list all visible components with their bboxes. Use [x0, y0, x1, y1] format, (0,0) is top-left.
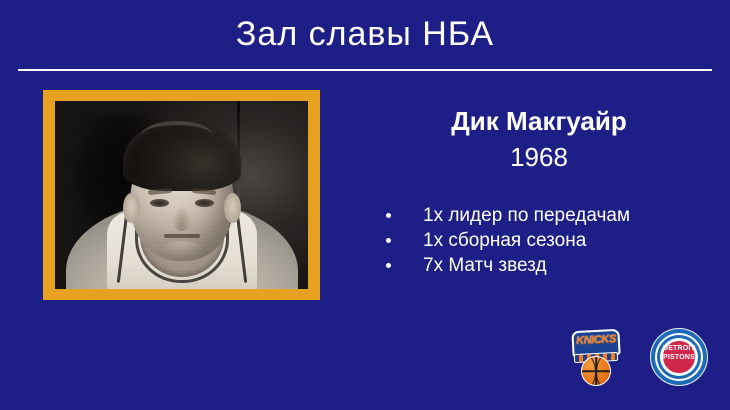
knicks-logo-body: KNICKS — [570, 330, 622, 386]
player-brow-left — [147, 188, 171, 195]
achievement-text: 7x Матч звезд — [423, 255, 547, 276]
player-ear-right — [224, 193, 241, 223]
player-eye-left — [150, 199, 169, 207]
hall-of-fame-slide: Зал славы НБА — [0, 0, 730, 410]
player-nose — [172, 205, 192, 231]
player-mouth — [164, 234, 200, 238]
jersey-trim-right — [235, 213, 247, 283]
bullet-icon — [386, 213, 391, 218]
list-item: 1x лидер по передачам — [383, 203, 630, 228]
player-hair-wave — [141, 121, 213, 151]
player-brow-right — [191, 188, 215, 195]
player-ear-left — [123, 193, 140, 223]
achievement-text: 1x лидер по передачам — [423, 205, 630, 226]
title-divider — [18, 69, 712, 71]
induction-year: 1968 — [360, 142, 718, 172]
player-eye-right — [195, 199, 214, 207]
team-logos: KNICKS DETROIT PISTONS — [566, 328, 714, 390]
pistons-wordmark-line2: PISTONS — [650, 354, 708, 363]
player-photo-frame — [43, 90, 320, 300]
pistons-logo-icon: DETROIT PISTONS — [650, 328, 708, 386]
player-chin — [160, 241, 204, 257]
bullet-icon — [386, 263, 391, 268]
player-photo — [55, 101, 308, 289]
list-item: 7x Матч звезд — [383, 253, 630, 278]
player-head — [130, 131, 234, 261]
player-name: Дик Макгуайр — [360, 106, 718, 136]
page-title: Зал славы НБА — [0, 14, 730, 54]
pistons-wordmark-line1: DETROIT — [650, 345, 708, 354]
basketball-seam-left — [581, 356, 596, 386]
bullet-icon — [386, 238, 391, 243]
knicks-logo-icon: KNICKS — [566, 328, 626, 390]
list-item: 1x сборная сезона — [383, 228, 630, 253]
achievements-list: 1x лидер по передачам 1x сборная сезона … — [383, 203, 630, 278]
basketball-icon — [581, 356, 611, 386]
achievement-text: 1x сборная сезона — [423, 230, 586, 251]
pistons-wordmark: DETROIT PISTONS — [650, 345, 708, 362]
jersey-trim-left — [116, 213, 128, 283]
basketball-seam-right — [596, 356, 611, 386]
